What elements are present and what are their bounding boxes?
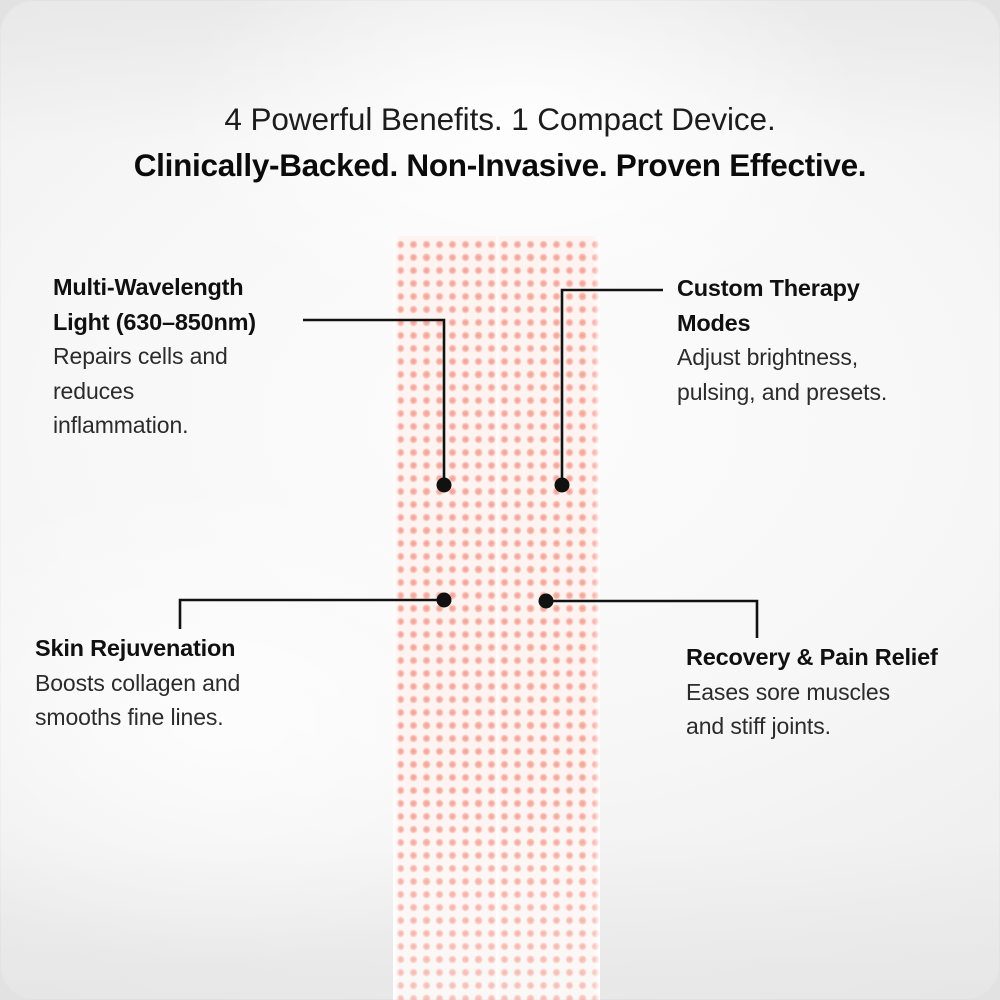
callout-title-line-2: Light (630–850nm) [53,309,256,335]
callout-body-line-1: Eases sore muscles [686,679,890,705]
callout-custom-therapy-modes: Custom Therapy Modes Adjust brightness, … [677,271,977,409]
callout-title-skin-rejuvenation: Skin Rejuvenation [35,631,355,666]
callout-body-custom-therapy-modes: Adjust brightness, pulsing, and presets. [677,340,977,409]
callout-title-multi-wavelength-light: Multi-Wavelength Light (630–850nm) [53,270,353,339]
infographic-card: 4 Powerful Benefits. 1 Compact Device. C… [0,0,1000,1000]
callout-body-line-1: Adjust brightness, [677,344,858,370]
callout-title-line-2: Modes [677,310,750,336]
led-light-therapy-panel [393,236,600,1000]
callout-body-line-2: reduces [53,378,134,404]
callout-body-line-3: inflammation. [53,412,188,438]
callout-body-line-1: Boosts collagen and [35,670,240,696]
callout-title-recovery-pain-relief: Recovery & Pain Relief [686,640,996,675]
headline-line-2: Clinically-Backed. Non-Invasive. Proven … [0,142,1000,188]
callout-recovery-pain-relief: Recovery & Pain Relief Eases sore muscle… [686,640,996,744]
headline-block: 4 Powerful Benefits. 1 Compact Device. C… [0,96,1000,188]
callout-body-line-2: and stiff joints. [686,713,831,739]
callout-title-custom-therapy-modes: Custom Therapy Modes [677,271,977,340]
callout-multi-wavelength-light: Multi-Wavelength Light (630–850nm) Repai… [53,270,353,443]
callout-body-line-2: smooths fine lines. [35,704,224,730]
callout-body-multi-wavelength-light: Repairs cells and reduces inflammation. [53,339,353,443]
headline-line-1: 4 Powerful Benefits. 1 Compact Device. [0,96,1000,142]
callout-body-line-2: pulsing, and presets. [677,379,887,405]
callout-title-line-1: Multi-Wavelength [53,274,243,300]
panel-bottom-fade [393,790,600,1000]
callout-body-skin-rejuvenation: Boosts collagen and smooths fine lines. [35,666,355,735]
callout-body-line-1: Repairs cells and [53,343,228,369]
callout-body-recovery-pain-relief: Eases sore muscles and stiff joints. [686,675,996,744]
callout-skin-rejuvenation: Skin Rejuvenation Boosts collagen and sm… [35,631,355,735]
callout-title-line-1: Custom Therapy [677,275,860,301]
